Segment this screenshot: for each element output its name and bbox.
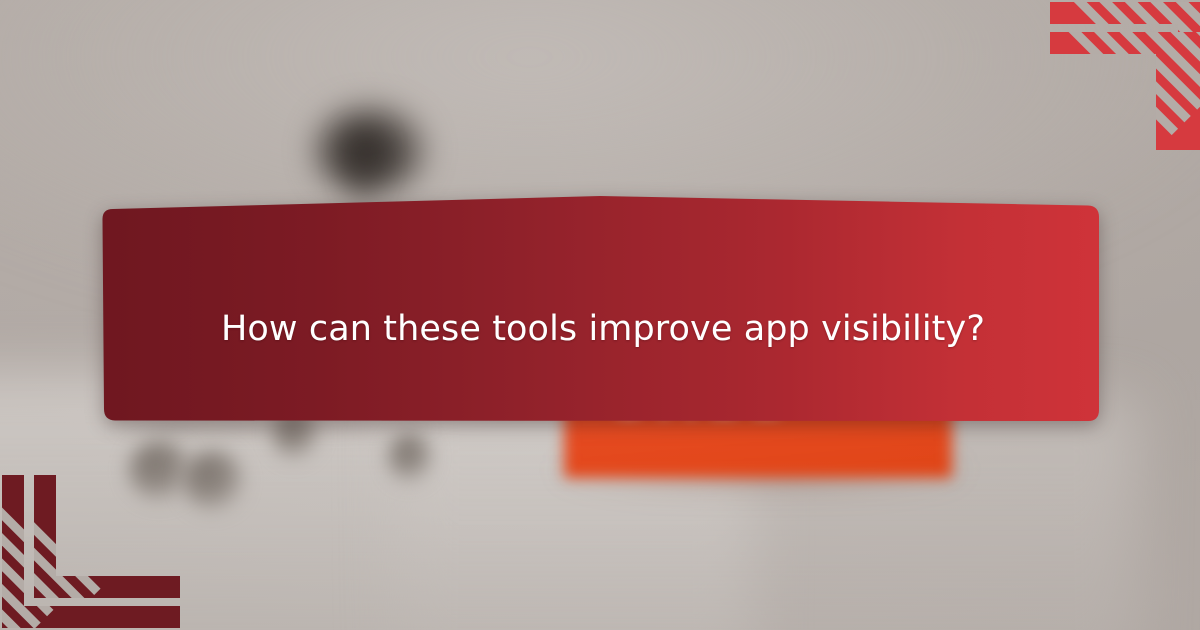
headline-banner: How can these tools improve app visibili… — [0, 0, 1200, 630]
headline-text: How can these tools improve app visibili… — [221, 306, 1061, 352]
banner-canvas: SALE — [0, 0, 1200, 630]
